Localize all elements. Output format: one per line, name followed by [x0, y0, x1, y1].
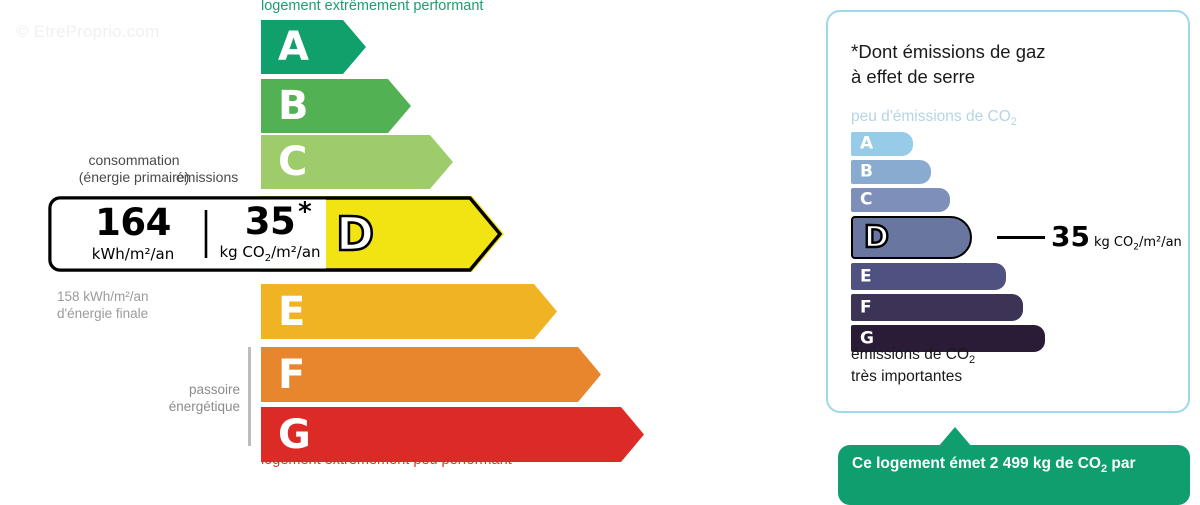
label-emissions: émissions [176, 169, 238, 185]
co2-value-group: 35* kg CO2/m²/an [214, 196, 326, 272]
dpe-band-f-letter: F [278, 355, 305, 395]
label-final-energy-line2: d'énergie finale [57, 305, 149, 322]
co2-bar-a-letter: A [860, 136, 873, 153]
dpe-band-b[interactable]: B [261, 79, 411, 133]
co2-panel-title: *Dont émissions de gaz à effet de serre [851, 40, 1046, 89]
co2-title-line1: Dont émissions de gaz [858, 41, 1045, 62]
passoire-bracket [248, 347, 251, 446]
co2-caption-top: peu d'émissions de CO2 [851, 108, 1017, 128]
dpe-band-f[interactable]: F [261, 347, 601, 402]
label-passoire-line2: énergétique [120, 398, 240, 415]
co2-bar-e-letter: E [860, 268, 872, 285]
arrow-shape-icon [261, 284, 557, 339]
co2-bar-a[interactable]: A [851, 132, 913, 156]
dpe-band-b-letter: B [278, 86, 309, 126]
co2-caption-bottom-prefix: émissions de CO [851, 346, 969, 363]
co2-bar-f[interactable]: F [851, 294, 1023, 321]
co2-total-banner-text: Ce logement émet 2 499 kg de CO2 par [852, 454, 1180, 476]
dpe-band-e-arrow [261, 284, 557, 339]
co2-caption-bottom-line2: très importantes [851, 368, 962, 385]
co2-bar-d[interactable]: D [851, 216, 972, 259]
dpe-band-e[interactable]: E [261, 284, 557, 339]
dpe-band-c-letter: C [278, 142, 307, 182]
co2-leader-line [997, 236, 1045, 239]
arrow-shape-icon [261, 20, 366, 74]
dpe-band-g[interactable]: G [261, 407, 644, 462]
co2-bar-c[interactable]: C [851, 188, 950, 212]
co2-caption-bottom: émissions de CO2 très importantes [851, 345, 975, 388]
co2-value-asterisk: * [298, 200, 311, 225]
dpe-band-c[interactable]: C [261, 135, 453, 189]
co2-bar-d-letter: D [864, 223, 889, 253]
co2-unit: kg CO2/m²/an [219, 243, 320, 264]
co2-panel-unit: kg CO2/m²/an [1094, 235, 1182, 250]
co2-value: 35* [245, 204, 296, 239]
co2-bar-f-letter: F [860, 299, 872, 316]
energy-value-group: 164 kWh/m²/an [62, 196, 204, 272]
co2-bar-b[interactable]: B [851, 160, 931, 184]
co2-panel-value: 35kg CO2/m²/an [1051, 223, 1182, 253]
label-passoire-energetique: passoire énergétique [120, 381, 240, 416]
arrow-shape-icon [261, 347, 601, 402]
co2-title-line2: à effet de serre [851, 66, 975, 87]
dpe-band-a[interactable]: A [261, 20, 366, 74]
banner-text-prefix: Ce logement émet 2 499 kg de CO [852, 455, 1101, 472]
label-final-energy: 158 kWh/m²/an d'énergie finale [57, 288, 149, 323]
dpe-rating-letter: D [336, 211, 374, 257]
co2-panel-value-number: 35 [1051, 220, 1090, 253]
label-consommation-line1: consommation [54, 152, 214, 169]
label-passoire-line1: passoire [120, 381, 240, 398]
dpe-band-e-letter: E [278, 292, 305, 332]
co2-caption-top-sub: 2 [1011, 116, 1017, 128]
dpe-band-a-arrow [261, 20, 366, 74]
label-final-energy-line1: 158 kWh/m²/an [57, 288, 149, 305]
co2-panel-unit-prefix: kg CO [1094, 235, 1133, 250]
co2-panel-unit-suffix: /m²/an [1139, 235, 1182, 250]
co2-unit-prefix: kg CO [219, 243, 264, 261]
energy-unit: kWh/m²/an [92, 245, 174, 263]
co2-bar-b-letter: B [860, 164, 873, 181]
dpe-band-g-arrow [261, 407, 644, 462]
co2-unit-suffix: /m²/an [271, 243, 320, 261]
dpe-energy-scale-panel: logement extrêmement performant logement… [0, 0, 700, 467]
banner-text-suffix: par [1107, 455, 1135, 472]
dpe-band-g-letter: G [278, 415, 311, 455]
banner-pointer-icon [938, 427, 972, 447]
co2-caption-bottom-sub: 2 [969, 354, 975, 366]
co2-bar-c-letter: C [860, 192, 872, 209]
arrow-shape-icon [261, 407, 644, 462]
co2-value-number: 35 [245, 200, 296, 243]
dpe-band-f-arrow [261, 347, 601, 402]
dpe-band-a-letter: A [278, 27, 309, 67]
co2-caption-top-prefix: peu d'émissions de CO [851, 108, 1011, 125]
co2-total-banner: Ce logement émet 2 499 kg de CO2 par [838, 445, 1190, 505]
energy-value: 164 [95, 205, 171, 240]
dpe-value-box: 164 kWh/m²/an 35* kg CO2/m²/an D [48, 196, 502, 272]
co2-emissions-panel: *Dont émissions de gaz à effet de serre … [826, 10, 1190, 413]
co2-bar-e[interactable]: E [851, 263, 1006, 290]
